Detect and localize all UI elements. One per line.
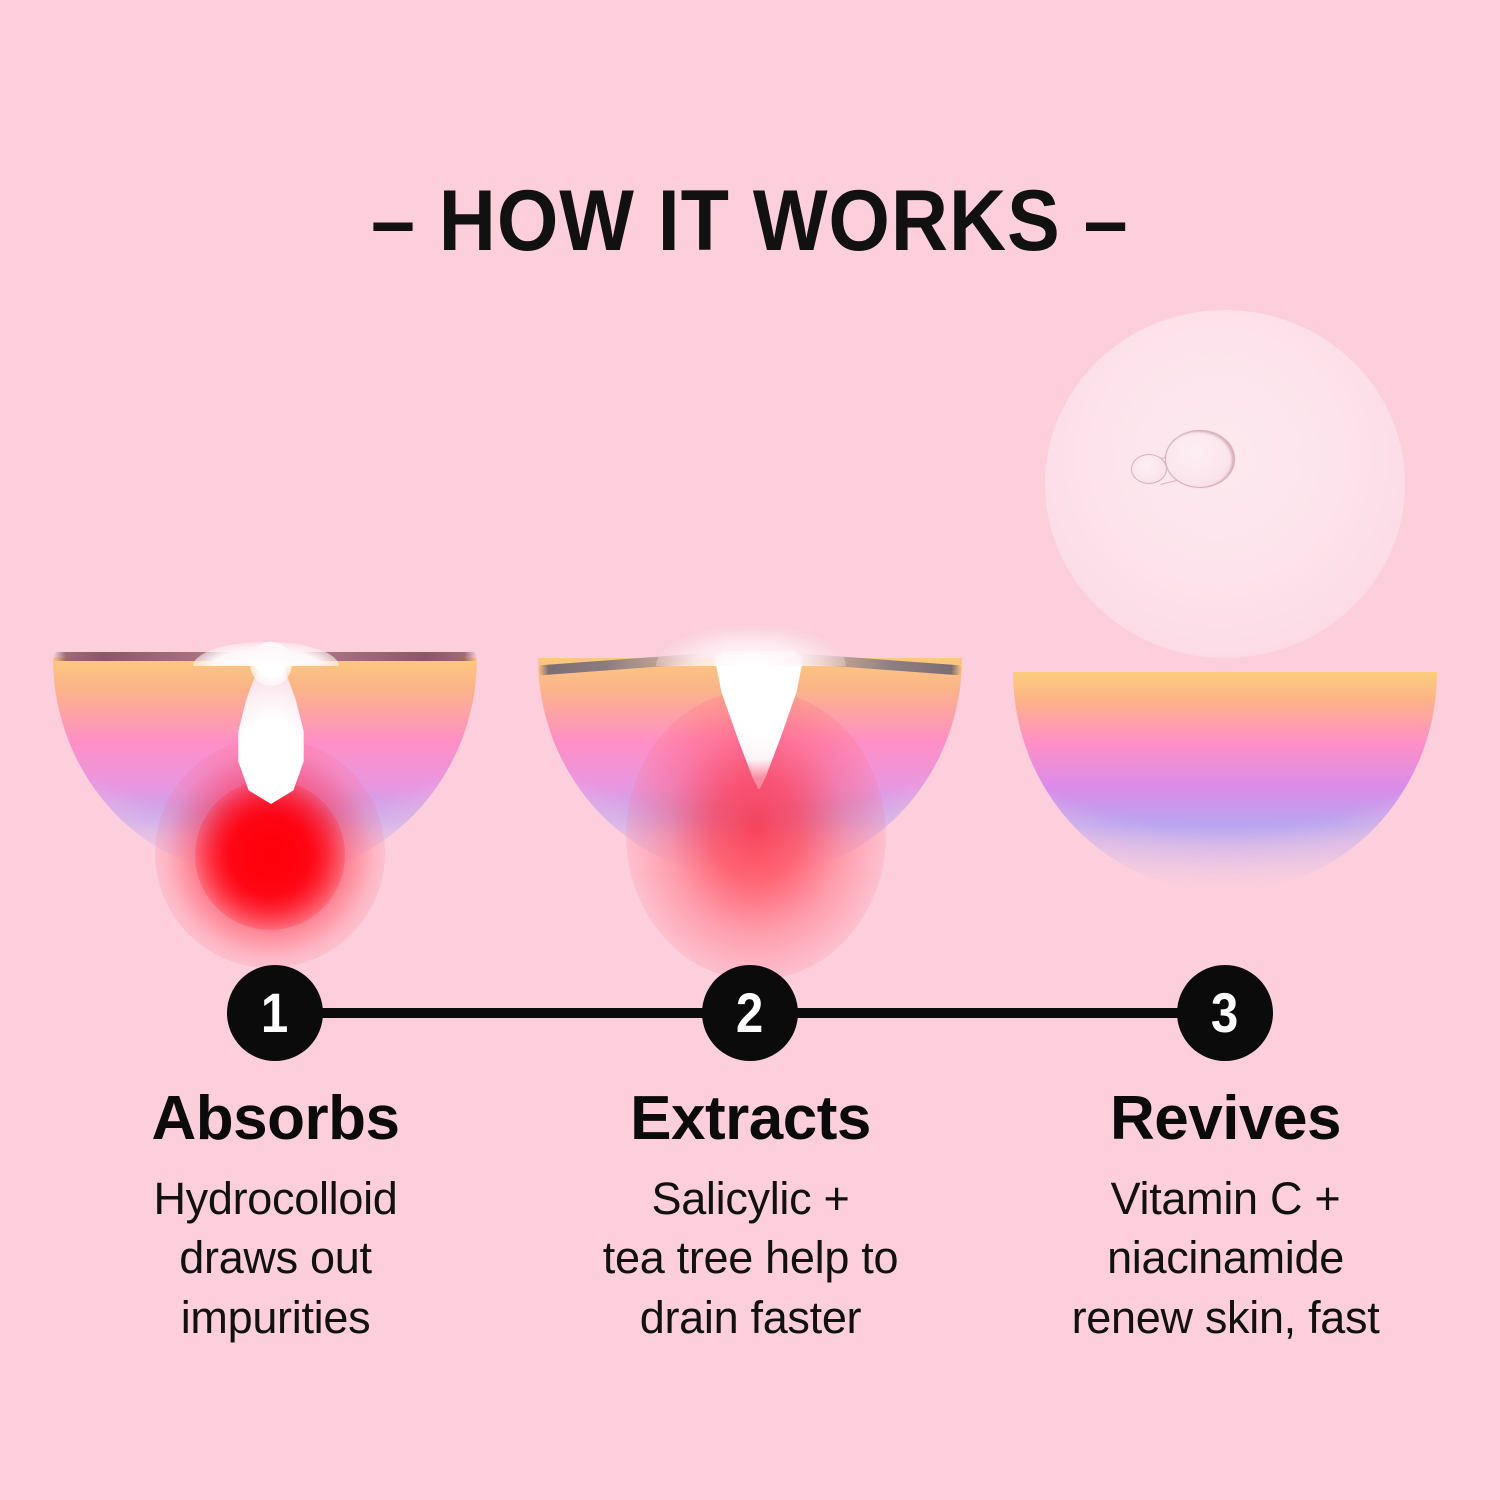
patch-center-dome: [656, 626, 846, 666]
page-header: – HOW IT WORKS –: [0, 178, 1500, 264]
track-connector-1: [305, 1008, 725, 1018]
step-number-3: 3: [1211, 985, 1238, 1041]
caption-step-2: Extracts Salicylic + tea tree help to dr…: [513, 1086, 988, 1347]
illustration-row: [0, 290, 1500, 910]
caption-heading-2: Extracts: [527, 1086, 974, 1151]
calm-skin-cross-section-icon: [1013, 672, 1437, 892]
illustration-step-3: [1005, 290, 1445, 910]
step-captions: Absorbs Hydrocolloid draws out impuritie…: [0, 1086, 1500, 1347]
illustration-step-1: [45, 290, 485, 910]
page-title: – HOW IT WORKS –: [371, 178, 1129, 264]
patch-center-bulge: [193, 642, 339, 666]
step-marker-2[interactable]: 2: [702, 965, 798, 1061]
trapped-impurity-icon: [1131, 430, 1235, 488]
hydrocolloid-patch-flat-icon: [53, 642, 477, 668]
caption-heading-1: Absorbs: [52, 1086, 499, 1151]
step-marker-3[interactable]: 3: [1177, 965, 1273, 1061]
caption-body-1: Hydrocolloid draws out impurities: [52, 1169, 499, 1347]
caption-step-1: Absorbs Hydrocolloid draws out impuritie…: [38, 1086, 513, 1347]
illustration-step-2: [530, 290, 970, 910]
track-connector-2: [780, 1008, 1200, 1018]
skin-gradient: [1013, 672, 1437, 892]
caption-step-3: Revives Vitamin C + niacinamide renew sk…: [988, 1086, 1463, 1347]
step-number-1: 1: [261, 985, 288, 1041]
caption-body-2: Salicylic + tea tree help to drain faste…: [527, 1169, 974, 1347]
impurity-body: [1165, 430, 1235, 488]
step-number-2: 2: [736, 985, 763, 1041]
step-marker-1[interactable]: 1: [227, 965, 323, 1061]
impurity-tail: [1131, 454, 1167, 484]
step-progress-track: 1 2 3: [0, 960, 1500, 1070]
caption-body-3: Vitamin C + niacinamide renew skin, fast: [1002, 1169, 1449, 1347]
hydrocolloid-patch-tented-icon: [538, 626, 962, 674]
caption-heading-3: Revives: [1002, 1086, 1449, 1151]
